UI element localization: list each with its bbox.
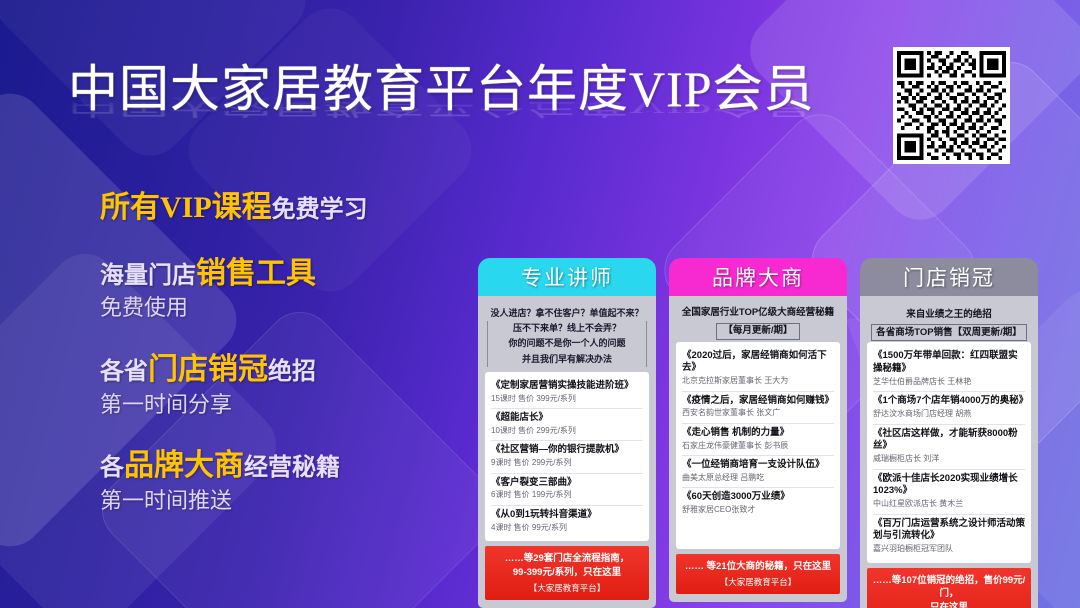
course-sub: 中山红星欧派店长 黄木兰 <box>873 499 1025 509</box>
course-sub: 9课时 售价 299元/系列 <box>491 458 643 468</box>
course-title: 《从0到1玩转抖音渠道》 <box>491 509 643 522</box>
card-brand-dealers-title: 品牌大商 <box>669 258 847 296</box>
footer-line-2: 99-399元/系列，只在这里 <box>490 566 644 580</box>
card-instructors[interactable]: 专业讲师 没人进店？拿不住客户？单值起不来？ 压不下来单？线上不会弄？ 你的问题… <box>478 258 656 608</box>
course-sub: 4课时 售价 99元/系列 <box>491 523 643 533</box>
course-cards: 专业讲师 没人进店？拿不住客户？单值起不来？ 压不下来单？线上不会弄？ 你的问题… <box>478 258 1038 608</box>
course-sub: 曲美太原总经理 吕鹏吃 <box>682 473 834 483</box>
list-item[interactable]: 《1个商场7个店年销4000万的奥秘》 舒达汶水商场门店经理 胡燕 <box>873 392 1025 424</box>
feature-3-prefix: 各省 <box>100 359 148 385</box>
list-item[interactable]: 《社区营销—你的银行提款机》 9课时 售价 299元/系列 <box>491 441 643 473</box>
course-title: 《社区店这样做，才能斩获8000粉丝》 <box>873 428 1025 454</box>
course-sub: 6课时 售价 199元/系列 <box>491 490 643 500</box>
course-title: 《客户裂变三部曲》 <box>491 477 643 490</box>
course-title: 《一位经销商培育一支设计队伍》 <box>682 459 834 472</box>
list-item[interactable]: 《定制家居营销实操技能进阶班》 15课时 售价 399元/系列 <box>491 377 643 409</box>
feature-2-highlight: 销售工具 <box>196 257 316 290</box>
intro-line-2: 压不下来单？线上不会弄？ <box>487 321 647 337</box>
card-top-sellers[interactable]: 门店销冠 来自业绩之王的绝招 各省商场TOP销售【双周更新/期】 《1500万年… <box>860 258 1038 608</box>
course-title: 《1500万年带单回款：红四联盟实操秘籍》 <box>873 350 1025 376</box>
feature-2-plain: 海量门店 <box>100 263 196 289</box>
course-sub: 威瑞橱柜店长 刘洋 <box>873 454 1025 464</box>
poster-canvas: VIP 中国大家居教育平台年度VIP会员 中国大家居教育平台年度VIP会员 <box>0 0 1080 608</box>
feature-4-prefix: 各 <box>100 455 124 481</box>
card-instructors-footer: ……等29套门店全流程指南， 99-399元/系列，只在这里 【大家居教育平台】 <box>485 546 649 600</box>
list-item[interactable]: 《60天创造3000万业绩》 舒雅家居CEO张致才 <box>682 488 834 519</box>
list-item[interactable]: 《2020过后，家居经销商如何活下去》 北京克拉斯家居董事长 王大为 <box>682 347 834 392</box>
card-top-sellers-body: 来自业绩之王的绝招 各省商场TOP销售【双周更新/期】 《1500万年带单回款：… <box>860 296 1038 608</box>
page-title: 中国大家居教育平台年度VIP会员 <box>68 58 815 120</box>
list-item[interactable]: 《超能店长》 10课时 售价 299元/系列 <box>491 409 643 441</box>
feature-item-3: 各省门店销冠绝招 第一时间分享 <box>100 350 480 420</box>
card-brand-dealers-intro: 全国家居行业TOP亿级大商经营秘籍 【每月更新/期】 <box>676 303 840 342</box>
list-item[interactable]: 《走心销售 机制的力量》 石家庄龙伟豪健董事长 彭书辰 <box>682 424 834 456</box>
feature-4-highlight: 品牌大商 <box>124 449 244 482</box>
feature-item-1: 所有VIP课程免费学习 <box>100 188 480 228</box>
card-instructors-body: 没人进店？拿不住客户？单值起不来？ 压不下来单？线上不会弄？ 你的问题不是你一个… <box>478 296 656 608</box>
course-title: 《1个商场7个店年销4000万的奥秘》 <box>873 395 1025 408</box>
card-top-sellers-list: 《1500万年带单回款：红四联盟实操秘籍》 芝华仕伯爵品牌店长 王林艳 《1个商… <box>867 342 1031 562</box>
feature-3-highlight: 门店销冠 <box>148 353 268 386</box>
feature-list: 所有VIP课程免费学习 海量门店销售工具 免费使用 各省门店销冠绝招 第一时间分… <box>100 188 480 543</box>
course-title: 《疫情之后，家居经销商如何赚钱》 <box>682 395 834 408</box>
feature-2-subline: 免费使用 <box>100 293 480 324</box>
course-title: 《超能店长》 <box>491 412 643 425</box>
course-sub: 嘉兴羽珀橱柜冠军团队 <box>873 544 1025 554</box>
footer-line-3: 【大家居教育平台】 <box>681 576 835 588</box>
course-sub: 北京克拉斯家居董事长 王大为 <box>682 376 834 386</box>
list-item[interactable]: 《从0到1玩转抖音渠道》 4课时 售价 99元/系列 <box>491 506 643 537</box>
course-sub: 芝华仕伯爵品牌店长 王林艳 <box>873 377 1025 387</box>
feature-1-plain: 免费学习 <box>272 197 368 223</box>
list-item[interactable]: 《疫情之后，家居经销商如何赚钱》 西安名韵世家董事长 张文广 <box>682 392 834 424</box>
feature-3-suffix: 绝招 <box>268 359 316 385</box>
card-instructors-title: 专业讲师 <box>478 258 656 296</box>
feature-1-highlight: 所有VIP课程 <box>100 191 272 224</box>
course-title: 《欧派十佳店长2020实现业绩增长1023%》 <box>873 473 1025 499</box>
course-sub: 舒达汶水商场门店经理 胡燕 <box>873 409 1025 419</box>
course-sub: 舒雅家居CEO张致才 <box>682 505 834 515</box>
card-top-sellers-footer: ……等107位销冠的绝招，售价99元/门， 只在这里 【大家居教育平台】 <box>867 568 1031 608</box>
intro-line-1: 来自业绩之王的绝招 <box>867 307 1031 322</box>
feature-4-suffix: 经营秘籍 <box>244 455 340 481</box>
feature-item-4: 各品牌大商经营秘籍 第一时间推送 <box>100 446 480 516</box>
course-title: 《定制家居营销实操技能进阶班》 <box>491 380 643 393</box>
course-title: 《60天创造3000万业绩》 <box>682 491 834 504</box>
card-brand-dealers[interactable]: 品牌大商 全国家居行业TOP亿级大商经营秘籍 【每月更新/期】 《2020过后，… <box>669 258 847 608</box>
qr-code-image <box>897 51 1006 160</box>
list-item[interactable]: 《欧派十佳店长2020实现业绩增长1023%》 中山红星欧派店长 黄木兰 <box>873 470 1025 515</box>
list-item[interactable]: 《社区店这样做，才能斩获8000粉丝》 威瑞橱柜店长 刘洋 <box>873 425 1025 470</box>
course-title: 《走心销售 机制的力量》 <box>682 427 834 440</box>
intro-line-2: 各省商场TOP销售【双周更新/期】 <box>871 324 1027 341</box>
course-sub: 15课时 售价 399元/系列 <box>491 394 643 404</box>
course-sub: 西安名韵世家董事长 张文广 <box>682 408 834 418</box>
card-top-sellers-title: 门店销冠 <box>860 258 1038 296</box>
feature-4-subline: 第一时间推送 <box>100 486 480 517</box>
list-item[interactable]: 《百万门店运营系统之设计师活动策划与引流转化》 嘉兴羽珀橱柜冠军团队 <box>873 515 1025 559</box>
footer-line-1: ……等107位销冠的绝招，售价99元/门， <box>872 574 1026 602</box>
footer-line-1: …… 等21位大商的秘籍，只在这里 <box>681 560 835 574</box>
list-item[interactable]: 《客户裂变三部曲》 6课时 售价 199元/系列 <box>491 474 643 506</box>
card-instructors-intro: 没人进店？拿不住客户？单值起不来？ 压不下来单？线上不会弄？ 你的问题不是你一个… <box>485 303 649 372</box>
card-top-sellers-intro: 来自业绩之王的绝招 各省商场TOP销售【双周更新/期】 <box>867 303 1031 342</box>
footer-line-2: 只在这里 <box>872 601 1026 608</box>
feature-3-subline: 第一时间分享 <box>100 390 480 421</box>
card-brand-dealers-list: 《2020过后，家居经销商如何活下去》 北京克拉斯家居董事长 王大为 《疫情之后… <box>676 342 840 550</box>
course-title: 《社区营销—你的银行提款机》 <box>491 444 643 457</box>
intro-line-1: 没人进店？拿不住客户？单值起不来？ <box>487 307 647 321</box>
footer-line-3: 【大家居教育平台】 <box>490 582 644 594</box>
intro-line-3: 你的问题不是你一个人的问题 <box>487 336 647 352</box>
intro-line-1: 全国家居行业TOP亿级大商经营秘籍 <box>676 306 840 320</box>
course-title: 《2020过后，家居经销商如何活下去》 <box>682 350 834 376</box>
card-instructors-list: 《定制家居营销实操技能进阶班》 15课时 售价 399元/系列 《超能店长》 1… <box>485 372 649 541</box>
course-title: 《百万门店运营系统之设计师活动策划与引流转化》 <box>873 518 1025 544</box>
footer-line-1: ……等29套门店全流程指南， <box>490 552 644 566</box>
card-brand-dealers-body: 全国家居行业TOP亿级大商经营秘籍 【每月更新/期】 《2020过后，家居经销商… <box>669 296 847 602</box>
qr-code[interactable] <box>893 47 1010 164</box>
card-brand-dealers-footer: …… 等21位大商的秘籍，只在这里 【大家居教育平台】 <box>676 554 840 594</box>
list-item[interactable]: 《一位经销商培育一支设计队伍》 曲美太原总经理 吕鹏吃 <box>682 456 834 488</box>
list-item[interactable]: 《1500万年带单回款：红四联盟实操秘籍》 芝华仕伯爵品牌店长 王林艳 <box>873 347 1025 392</box>
intro-line-4: 并且我们早有解决办法 <box>487 352 647 368</box>
course-sub: 石家庄龙伟豪健董事长 彭书辰 <box>682 441 834 451</box>
intro-line-2: 【每月更新/期】 <box>716 323 799 339</box>
feature-item-2: 海量门店销售工具 免费使用 <box>100 254 480 324</box>
course-sub: 10课时 售价 299元/系列 <box>491 426 643 436</box>
